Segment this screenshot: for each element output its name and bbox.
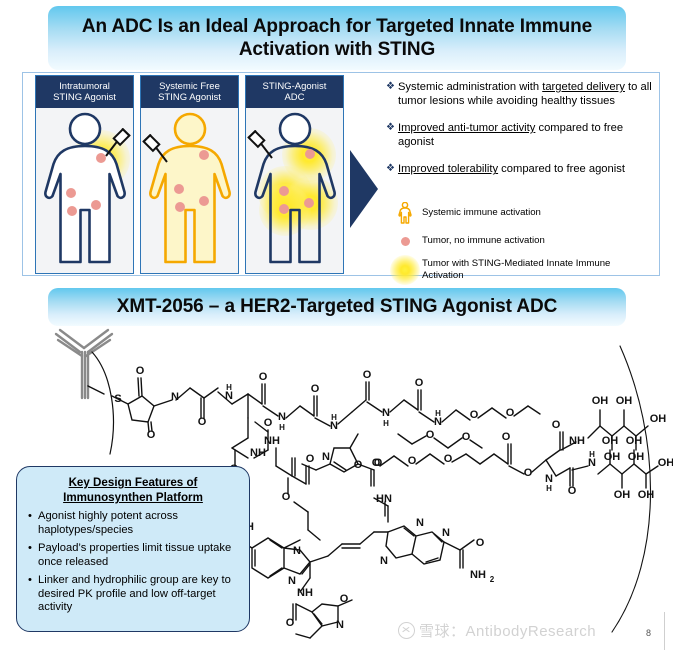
panel-intratumoral-title-line2: STING Agonist bbox=[53, 92, 116, 103]
panel-sting-agonist-adc-title-line1: STING-Agonist bbox=[263, 81, 327, 92]
svg-text:O: O bbox=[408, 455, 417, 467]
svg-text:O: O bbox=[311, 383, 320, 395]
svg-text:OH: OH bbox=[650, 413, 667, 425]
tumor-dot-icon bbox=[67, 206, 77, 216]
list-item: Payload’s properties limit tissue uptake… bbox=[27, 542, 239, 570]
svg-text:H: H bbox=[435, 409, 441, 418]
tumor-glow-icon bbox=[388, 259, 422, 281]
svg-text:OH: OH bbox=[628, 451, 645, 463]
svg-text:OH: OH bbox=[604, 451, 621, 463]
svg-text:O: O bbox=[259, 371, 268, 383]
svg-text:NH: NH bbox=[569, 435, 585, 447]
svg-text:H: H bbox=[383, 419, 389, 428]
progression-arrow-icon bbox=[348, 150, 382, 228]
panel-systemic-free-title-line1: Systemic Free bbox=[159, 81, 220, 92]
svg-text:O: O bbox=[415, 377, 424, 389]
svg-text:O: O bbox=[462, 431, 471, 443]
syringe-icon bbox=[100, 128, 132, 162]
svg-text:N: N bbox=[380, 555, 388, 567]
tumor-dot-icon bbox=[175, 202, 185, 212]
svg-text:2: 2 bbox=[490, 575, 495, 584]
svg-text:O: O bbox=[286, 617, 295, 629]
key-design-features-title: Key Design Features of Immunosynthen Pla… bbox=[27, 475, 239, 505]
panel-sting-agonist-adc-title-line2: ADC bbox=[284, 92, 304, 103]
page-number: 8 bbox=[646, 628, 651, 638]
legend-label: Tumor with STING-Mediated Innate Immune … bbox=[422, 258, 642, 281]
svg-text:O: O bbox=[444, 453, 453, 465]
slide: An ADC Is an Ideal Approach for Targeted… bbox=[0, 0, 673, 650]
watermark-logo-icon bbox=[398, 622, 415, 639]
svg-text:NH: NH bbox=[250, 447, 266, 459]
svg-text:O: O bbox=[426, 429, 435, 441]
svg-text:OH: OH bbox=[592, 395, 609, 407]
svg-text:OH: OH bbox=[616, 395, 633, 407]
svg-text:OH: OH bbox=[626, 435, 643, 447]
svg-text:O: O bbox=[136, 365, 145, 377]
key-design-features-box: Key Design Features of Immunosynthen Pla… bbox=[16, 466, 250, 632]
bullet-text: Systemic administration with targeted de… bbox=[398, 80, 658, 108]
panel-intratumoral-header: Intratumoral STING Agonist bbox=[36, 76, 133, 108]
svg-text:O: O bbox=[354, 459, 363, 471]
svg-text:N: N bbox=[382, 407, 390, 419]
panel-intratumoral: Intratumoral STING Agonist bbox=[35, 75, 134, 274]
svg-text:N: N bbox=[293, 545, 301, 557]
svg-text:O: O bbox=[524, 467, 533, 479]
panel-systemic-free-title-line2: STING Agonist bbox=[158, 92, 221, 103]
svg-text:O: O bbox=[264, 417, 273, 429]
svg-text:O: O bbox=[198, 416, 207, 428]
bullet-text: Improved tolerability compared to free a… bbox=[398, 162, 625, 176]
panel-sting-agonist-adc-header: STING-Agonist ADC bbox=[246, 76, 343, 108]
slide-title-banner: An ADC Is an Ideal Approach for Targeted… bbox=[48, 6, 626, 70]
svg-text:H: H bbox=[546, 484, 552, 493]
legend-label: Tumor, no immune activation bbox=[422, 235, 545, 247]
svg-text:N: N bbox=[278, 411, 286, 423]
person-icon bbox=[388, 202, 422, 224]
svg-text:H: H bbox=[226, 383, 232, 392]
svg-text:N: N bbox=[336, 619, 344, 631]
svg-text:O: O bbox=[568, 485, 577, 497]
svg-text:O: O bbox=[476, 537, 485, 549]
svg-text:S: S bbox=[114, 393, 121, 405]
legend-row: Systemic immune activation bbox=[388, 202, 658, 224]
svg-text:N: N bbox=[171, 391, 179, 403]
tumor-dot-icon bbox=[199, 150, 209, 160]
svg-text:OH: OH bbox=[638, 489, 655, 501]
svg-text:H: H bbox=[279, 423, 285, 432]
molecule-title-banner: XMT-2056 – a HER2-Targeted STING Agonist… bbox=[48, 288, 626, 326]
svg-text:O: O bbox=[552, 419, 561, 431]
tumor-dot-icon bbox=[305, 149, 315, 159]
svg-text:NH: NH bbox=[470, 569, 486, 581]
tumor-dot-icon bbox=[388, 230, 422, 252]
watermark-text: 雪球：AntibodyResearch bbox=[419, 620, 596, 641]
diamond-bullet-icon: ❖ bbox=[386, 162, 395, 175]
svg-text:N: N bbox=[442, 527, 450, 539]
syringe-icon bbox=[141, 134, 173, 168]
svg-text:O: O bbox=[147, 429, 156, 441]
svg-text:O: O bbox=[363, 369, 372, 381]
tumor-dot-icon bbox=[66, 188, 76, 198]
svg-text:O: O bbox=[282, 491, 291, 503]
key-design-features-list: Agonist highly potent across haplotypes/… bbox=[27, 510, 239, 615]
benefits-list: ❖ Systemic administration with targeted … bbox=[386, 80, 658, 190]
svg-text:N: N bbox=[322, 451, 330, 463]
svg-text:NH: NH bbox=[297, 587, 313, 599]
tumor-dot-icon bbox=[199, 196, 209, 206]
svg-text:OH: OH bbox=[658, 457, 673, 469]
bullet-item: ❖ Improved anti-tumor activity compared … bbox=[386, 121, 658, 149]
svg-text:OH: OH bbox=[614, 489, 631, 501]
svg-text:H: H bbox=[331, 413, 337, 422]
panel-systemic-free-header: Systemic Free STING Agonist bbox=[141, 76, 238, 108]
molecule-title-text: XMT-2056 – a HER2-Targeted STING Agonist… bbox=[117, 295, 557, 318]
svg-text:O: O bbox=[506, 407, 515, 419]
panel-sting-agonist-adc-body bbox=[246, 108, 343, 273]
svg-text:H: H bbox=[589, 450, 595, 459]
watermark: 雪球：AntibodyResearch bbox=[398, 620, 596, 641]
svg-text:O: O bbox=[470, 409, 479, 421]
list-item: Agonist highly potent across haplotypes/… bbox=[27, 510, 239, 538]
tumor-dot-icon bbox=[304, 198, 314, 208]
slide-title-text: An ADC Is an Ideal Approach for Targeted… bbox=[48, 15, 626, 61]
bullet-item: ❖ Systemic administration with targeted … bbox=[386, 80, 658, 108]
svg-text:N: N bbox=[288, 575, 296, 587]
panel-sting-agonist-adc: STING-Agonist ADC bbox=[245, 75, 344, 274]
svg-text:OH: OH bbox=[602, 435, 619, 447]
syringe-icon bbox=[246, 130, 278, 164]
svg-text:O: O bbox=[374, 457, 383, 469]
tumor-dot-icon bbox=[279, 204, 289, 214]
svg-text:N: N bbox=[416, 517, 424, 529]
tumor-dot-icon bbox=[174, 184, 184, 194]
legend-row: Tumor, no immune activation bbox=[388, 230, 658, 252]
bullet-item: ❖ Improved tolerability compared to free… bbox=[386, 162, 658, 176]
right-rule bbox=[664, 612, 665, 650]
diamond-bullet-icon: ❖ bbox=[386, 80, 395, 93]
list-item: Linker and hydrophilic group are key to … bbox=[27, 574, 239, 616]
panel-intratumoral-title-line1: Intratumoral bbox=[59, 81, 110, 92]
svg-text:O: O bbox=[340, 593, 349, 605]
tumor-dot-icon bbox=[279, 186, 289, 196]
svg-text:HN: HN bbox=[376, 493, 392, 505]
legend: Systemic immune activation Tumor, no imm… bbox=[388, 202, 658, 287]
panel-systemic-free: Systemic Free STING Agonist bbox=[140, 75, 239, 274]
svg-text:NH: NH bbox=[264, 435, 280, 447]
antibody-y-icon bbox=[56, 330, 112, 398]
bullet-text: Improved anti-tumor activity compared to… bbox=[398, 121, 658, 149]
legend-row: Tumor with STING-Mediated Innate Immune … bbox=[388, 258, 658, 281]
tumor-dot-icon bbox=[91, 200, 101, 210]
svg-text:O: O bbox=[306, 453, 315, 465]
svg-text:O: O bbox=[502, 431, 511, 443]
panel-systemic-free-body bbox=[141, 108, 238, 273]
panel-intratumoral-body bbox=[36, 108, 133, 273]
diamond-bullet-icon: ❖ bbox=[386, 121, 395, 134]
legend-label: Systemic immune activation bbox=[422, 207, 541, 219]
